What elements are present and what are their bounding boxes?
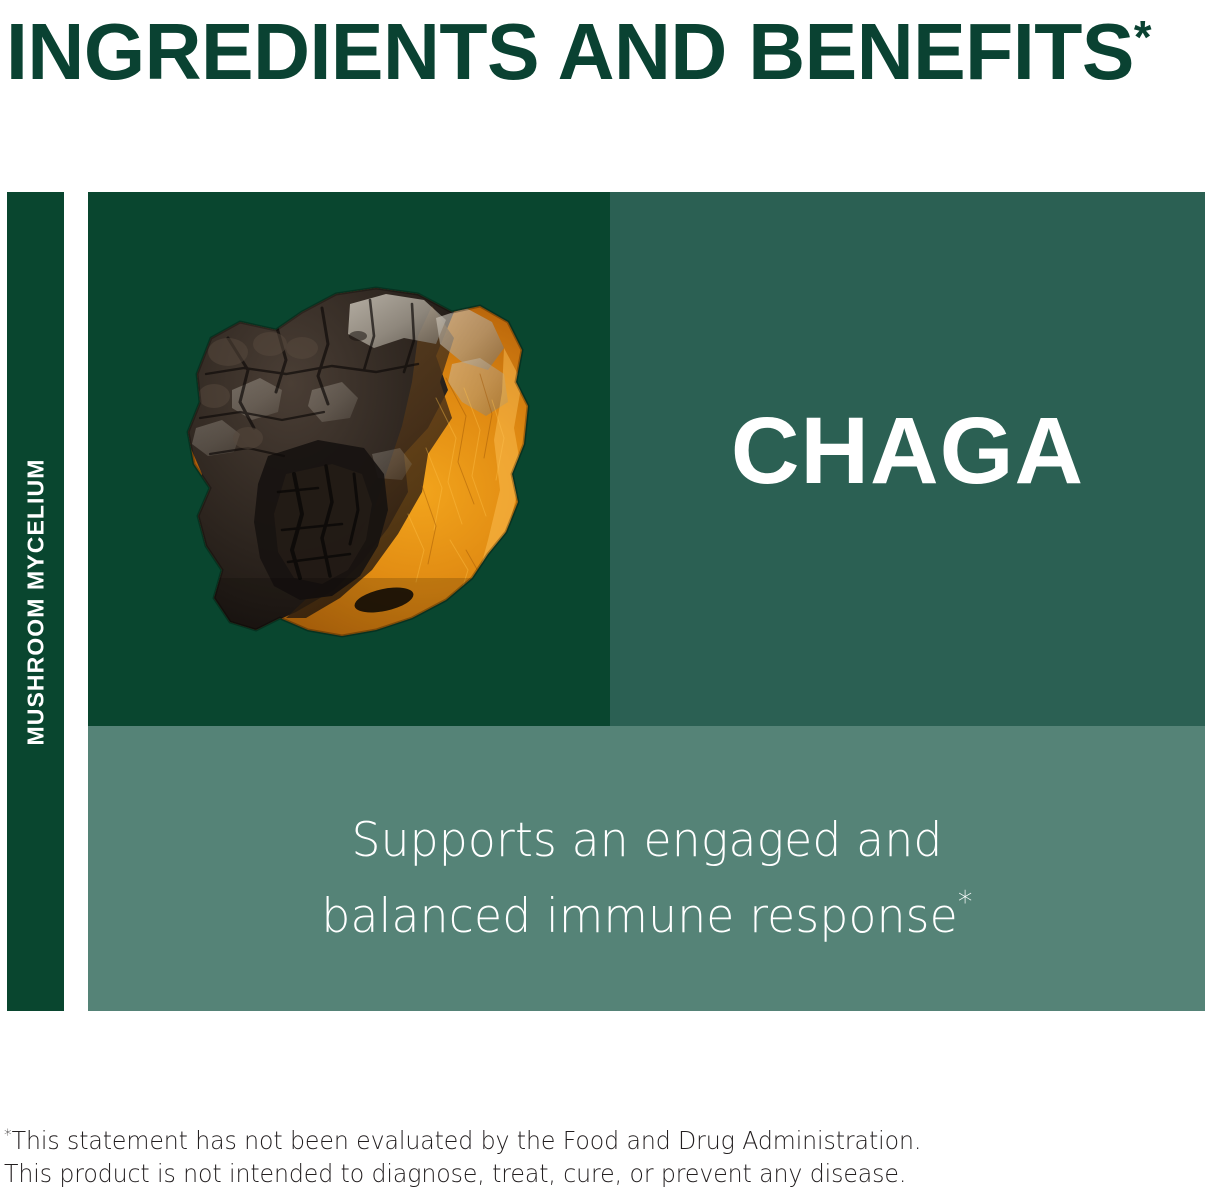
- category-bar: MUSHROOM MYCELIUM: [7, 192, 64, 1011]
- page-title-text: INGREDIENTS AND BENEFITS: [6, 7, 1134, 96]
- disclaimer-line-1-text: This statement has not been evaluated by…: [12, 1126, 922, 1155]
- benefit-claim: Supports an engaged and balanced immune …: [259, 810, 1035, 948]
- benefit-claim-footnote-marker: *: [957, 885, 972, 920]
- benefit-claim-text: Supports an engaged and balanced immune …: [321, 813, 957, 944]
- disclaimer: *This statement has not been evaluated b…: [4, 1118, 969, 1190]
- page-title: INGREDIENTS AND BENEFITS*: [6, 0, 1193, 80]
- disclaimer-line-1: *This statement has not been evaluated b…: [4, 1118, 969, 1157]
- disclaimer-line-2: This product is not intended to diagnose…: [4, 1157, 969, 1190]
- ingredient-card-top-row: CHAGA: [88, 192, 1205, 726]
- ingredient-name-panel: CHAGA: [610, 192, 1205, 726]
- disclaimer-footnote-marker: *: [4, 1125, 12, 1144]
- category-bar-label: MUSHROOM MYCELIUM: [22, 458, 49, 745]
- ingredient-benefit-panel: Supports an engaged and balanced immune …: [88, 726, 1205, 1011]
- ingredient-photo-panel: [88, 192, 610, 726]
- chaga-mushroom-image: [136, 278, 566, 660]
- ingredient-name: CHAGA: [731, 404, 1084, 499]
- ingredient-card: CHAGA Supports an engaged and balanced i…: [88, 192, 1205, 1011]
- page-title-footnote-marker: *: [1134, 11, 1152, 63]
